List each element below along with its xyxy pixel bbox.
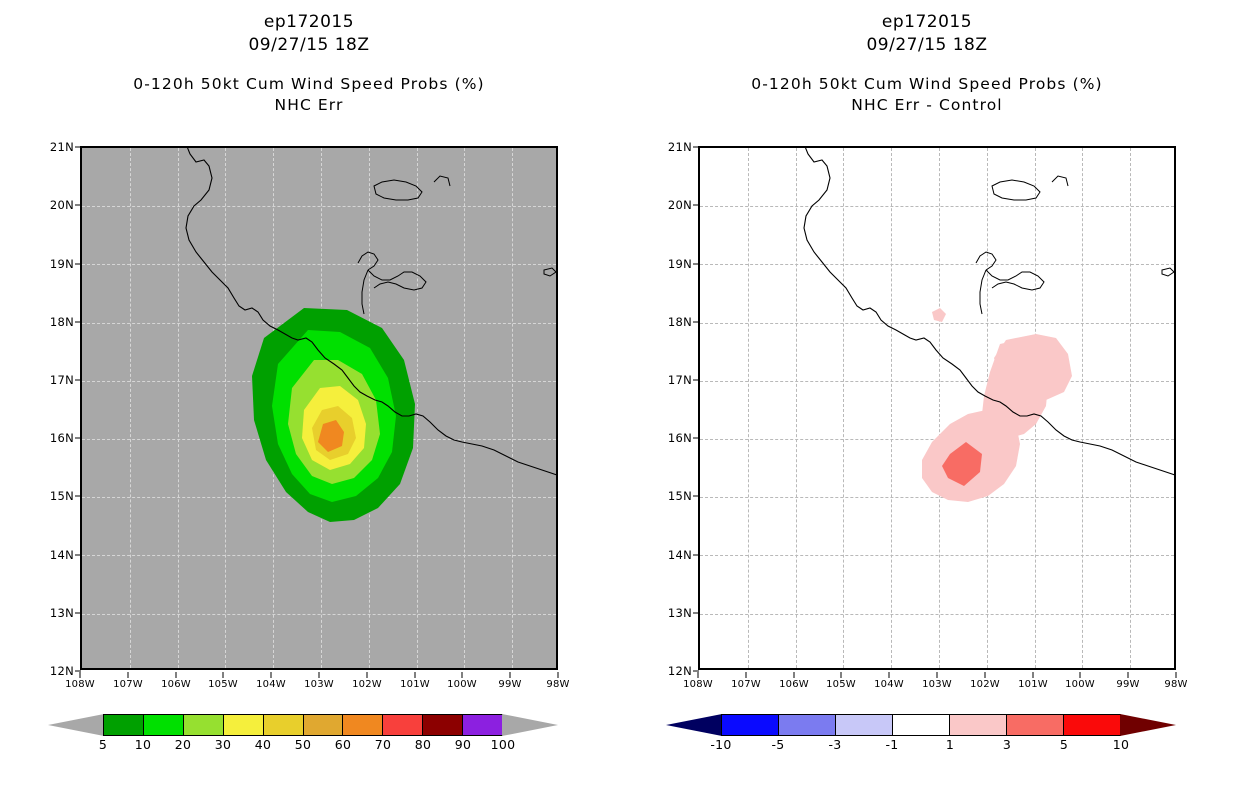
y-axis-tick: 20N (650, 198, 692, 212)
colorbar-cell-neg3 (836, 715, 893, 735)
colorbar-probability: 5 10 20 30 40 50 60 70 80 90 100 (48, 710, 558, 768)
colorbar-tick: 5 (1044, 737, 1084, 752)
panel-right-titles: ep172015 09/27/15 18Z 0-120h 50kt Cum Wi… (618, 0, 1236, 114)
small-island (544, 268, 556, 276)
y-axis-tick: 14N (650, 548, 692, 562)
colorbar-tick: 70 (363, 737, 403, 752)
colorbar-tick: 60 (323, 737, 363, 752)
x-axis-tick: 106W (153, 679, 199, 690)
y-axis-tick: 12N (32, 664, 74, 678)
colorbar-tick: 1 (930, 737, 970, 752)
inland-water-feature (358, 252, 426, 314)
y-axis-tick: 15N (650, 489, 692, 503)
colorbar-tick: 50 (283, 737, 323, 752)
map-plot-area-right (698, 146, 1176, 670)
colorbar-tick: 100 (483, 737, 523, 752)
y-axis-tick: 14N (32, 548, 74, 562)
x-axis-tick: 98W (1153, 679, 1199, 690)
coastline-overlay (700, 148, 1176, 670)
colorbar-cell-30 (224, 715, 264, 735)
colorbar-cell-70 (383, 715, 423, 735)
x-axis-tick: 105W (200, 679, 246, 690)
y-axis-tick: 13N (650, 606, 692, 620)
y-axis-tick: 13N (32, 606, 74, 620)
colorbar-tick: 40 (243, 737, 283, 752)
y-axis-tick: 19N (32, 257, 74, 271)
x-axis-tick: 100W (439, 679, 485, 690)
colorbar-gradient (103, 714, 503, 736)
x-axis-tick: 106W (771, 679, 817, 690)
colorbar-cell-pos3 (1007, 715, 1064, 735)
x-axis-tick: 107W (723, 679, 769, 690)
colorbar-tick: 3 (987, 737, 1027, 752)
datetime-right: 09/27/15 18Z (618, 35, 1236, 55)
coastline-path (804, 148, 1176, 476)
coastline-overlay (82, 148, 558, 670)
y-axis-tick: 12N (650, 664, 692, 678)
colorbar-tick: 90 (443, 737, 483, 752)
colorbar-tick: -1 (872, 737, 912, 752)
colorbar-tick: 10 (1101, 737, 1141, 752)
x-axis-tick: 104W (248, 679, 294, 690)
x-axis-tick: 101W (392, 679, 438, 690)
panel-nhc-err: ep172015 09/27/15 18Z 0-120h 50kt Cum Wi… (0, 0, 618, 800)
y-axis-tick: 21N (32, 140, 74, 154)
coastline-path (186, 148, 558, 476)
x-axis-tick: 105W (818, 679, 864, 690)
colorbar-cap-left (666, 714, 722, 736)
colorbar-tick: -5 (758, 737, 798, 752)
colorbar-cell-neg5 (779, 715, 836, 735)
storm-id-right: ep172015 (618, 12, 1236, 32)
colorbar-cell-90 (463, 715, 502, 735)
map-plot-area-left (80, 146, 558, 670)
storm-id-left: ep172015 (0, 12, 618, 32)
chart-title-right: 0-120h 50kt Cum Wind Speed Probs (%) (618, 75, 1236, 93)
colorbar-difference: -10 -5 -3 -1 1 3 5 10 (666, 710, 1176, 768)
y-axis-tick: 17N (32, 373, 74, 387)
colorbar-cap-right (1120, 714, 1176, 736)
colorbar-cell-5 (104, 715, 144, 735)
y-axis-tick: 16N (650, 431, 692, 445)
colorbar-ticks: 5 10 20 30 40 50 60 70 80 90 100 (103, 737, 503, 759)
x-axis-tick: 108W (675, 679, 721, 690)
small-island (1162, 268, 1174, 276)
lake-outline (374, 180, 422, 200)
colorbar-cell-20 (184, 715, 224, 735)
x-axis-tick: 103W (914, 679, 960, 690)
colorbar-tick: 80 (403, 737, 443, 752)
panel-left-titles: ep172015 09/27/15 18Z 0-120h 50kt Cum Wi… (0, 0, 618, 114)
colorbar-tick: -3 (815, 737, 855, 752)
datetime-left: 09/27/15 18Z (0, 35, 618, 55)
x-axis-tick: 103W (296, 679, 342, 690)
y-axis-tick: 20N (32, 198, 74, 212)
chart-subtitle-right: NHC Err - Control (618, 96, 1236, 114)
colorbar-tick: 10 (123, 737, 163, 752)
colorbar-cap-right (502, 714, 558, 736)
colorbar-cell-60 (343, 715, 383, 735)
chart-title-left: 0-120h 50kt Cum Wind Speed Probs (%) (0, 75, 618, 93)
x-axis-tick: 99W (1105, 679, 1151, 690)
colorbar-cell-pos5 (1064, 715, 1120, 735)
chart-subtitle-left: NHC Err (0, 96, 618, 114)
colorbar-cell-10 (144, 715, 184, 735)
x-axis-tick: 104W (866, 679, 912, 690)
y-axis-tick: 17N (650, 373, 692, 387)
y-axis-tick: 19N (650, 257, 692, 271)
colorbar-cell-pos1 (950, 715, 1007, 735)
y-axis-tick: 15N (32, 489, 74, 503)
x-axis-tick: 108W (57, 679, 103, 690)
colorbar-tick: -10 (701, 737, 741, 752)
x-axis-tick: 100W (1057, 679, 1103, 690)
colorbar-gradient (721, 714, 1121, 736)
colorbar-tick: 30 (203, 737, 243, 752)
y-axis-tick: 18N (32, 315, 74, 329)
colorbar-cap-left (48, 714, 104, 736)
colorbar-cell-50 (304, 715, 344, 735)
panel-nhc-err-minus-control: ep172015 09/27/15 18Z 0-120h 50kt Cum Wi… (618, 0, 1236, 800)
colorbar-cell-40 (264, 715, 304, 735)
y-axis-tick: 21N (650, 140, 692, 154)
x-axis-tick: 102W (962, 679, 1008, 690)
colorbar-ticks: -10 -5 -3 -1 1 3 5 10 (721, 737, 1121, 759)
x-axis-tick: 98W (535, 679, 581, 690)
inland-water-feature (976, 252, 1044, 314)
colorbar-cell-neg10 (722, 715, 779, 735)
wind-speed-probability-figure: ep172015 09/27/15 18Z 0-120h 50kt Cum Wi… (0, 0, 1236, 800)
river-mark (1052, 176, 1068, 186)
colorbar-tick: 5 (83, 737, 123, 752)
x-axis-tick: 99W (487, 679, 533, 690)
colorbar-cell-80 (423, 715, 463, 735)
x-axis-tick: 107W (105, 679, 151, 690)
x-axis-tick: 102W (344, 679, 390, 690)
river-mark (434, 176, 450, 186)
lake-outline (992, 180, 1040, 200)
colorbar-tick: 20 (163, 737, 203, 752)
y-axis-tick: 18N (650, 315, 692, 329)
colorbar-cell-neg1 (893, 715, 950, 735)
y-axis-tick: 16N (32, 431, 74, 445)
x-axis-tick: 101W (1010, 679, 1056, 690)
